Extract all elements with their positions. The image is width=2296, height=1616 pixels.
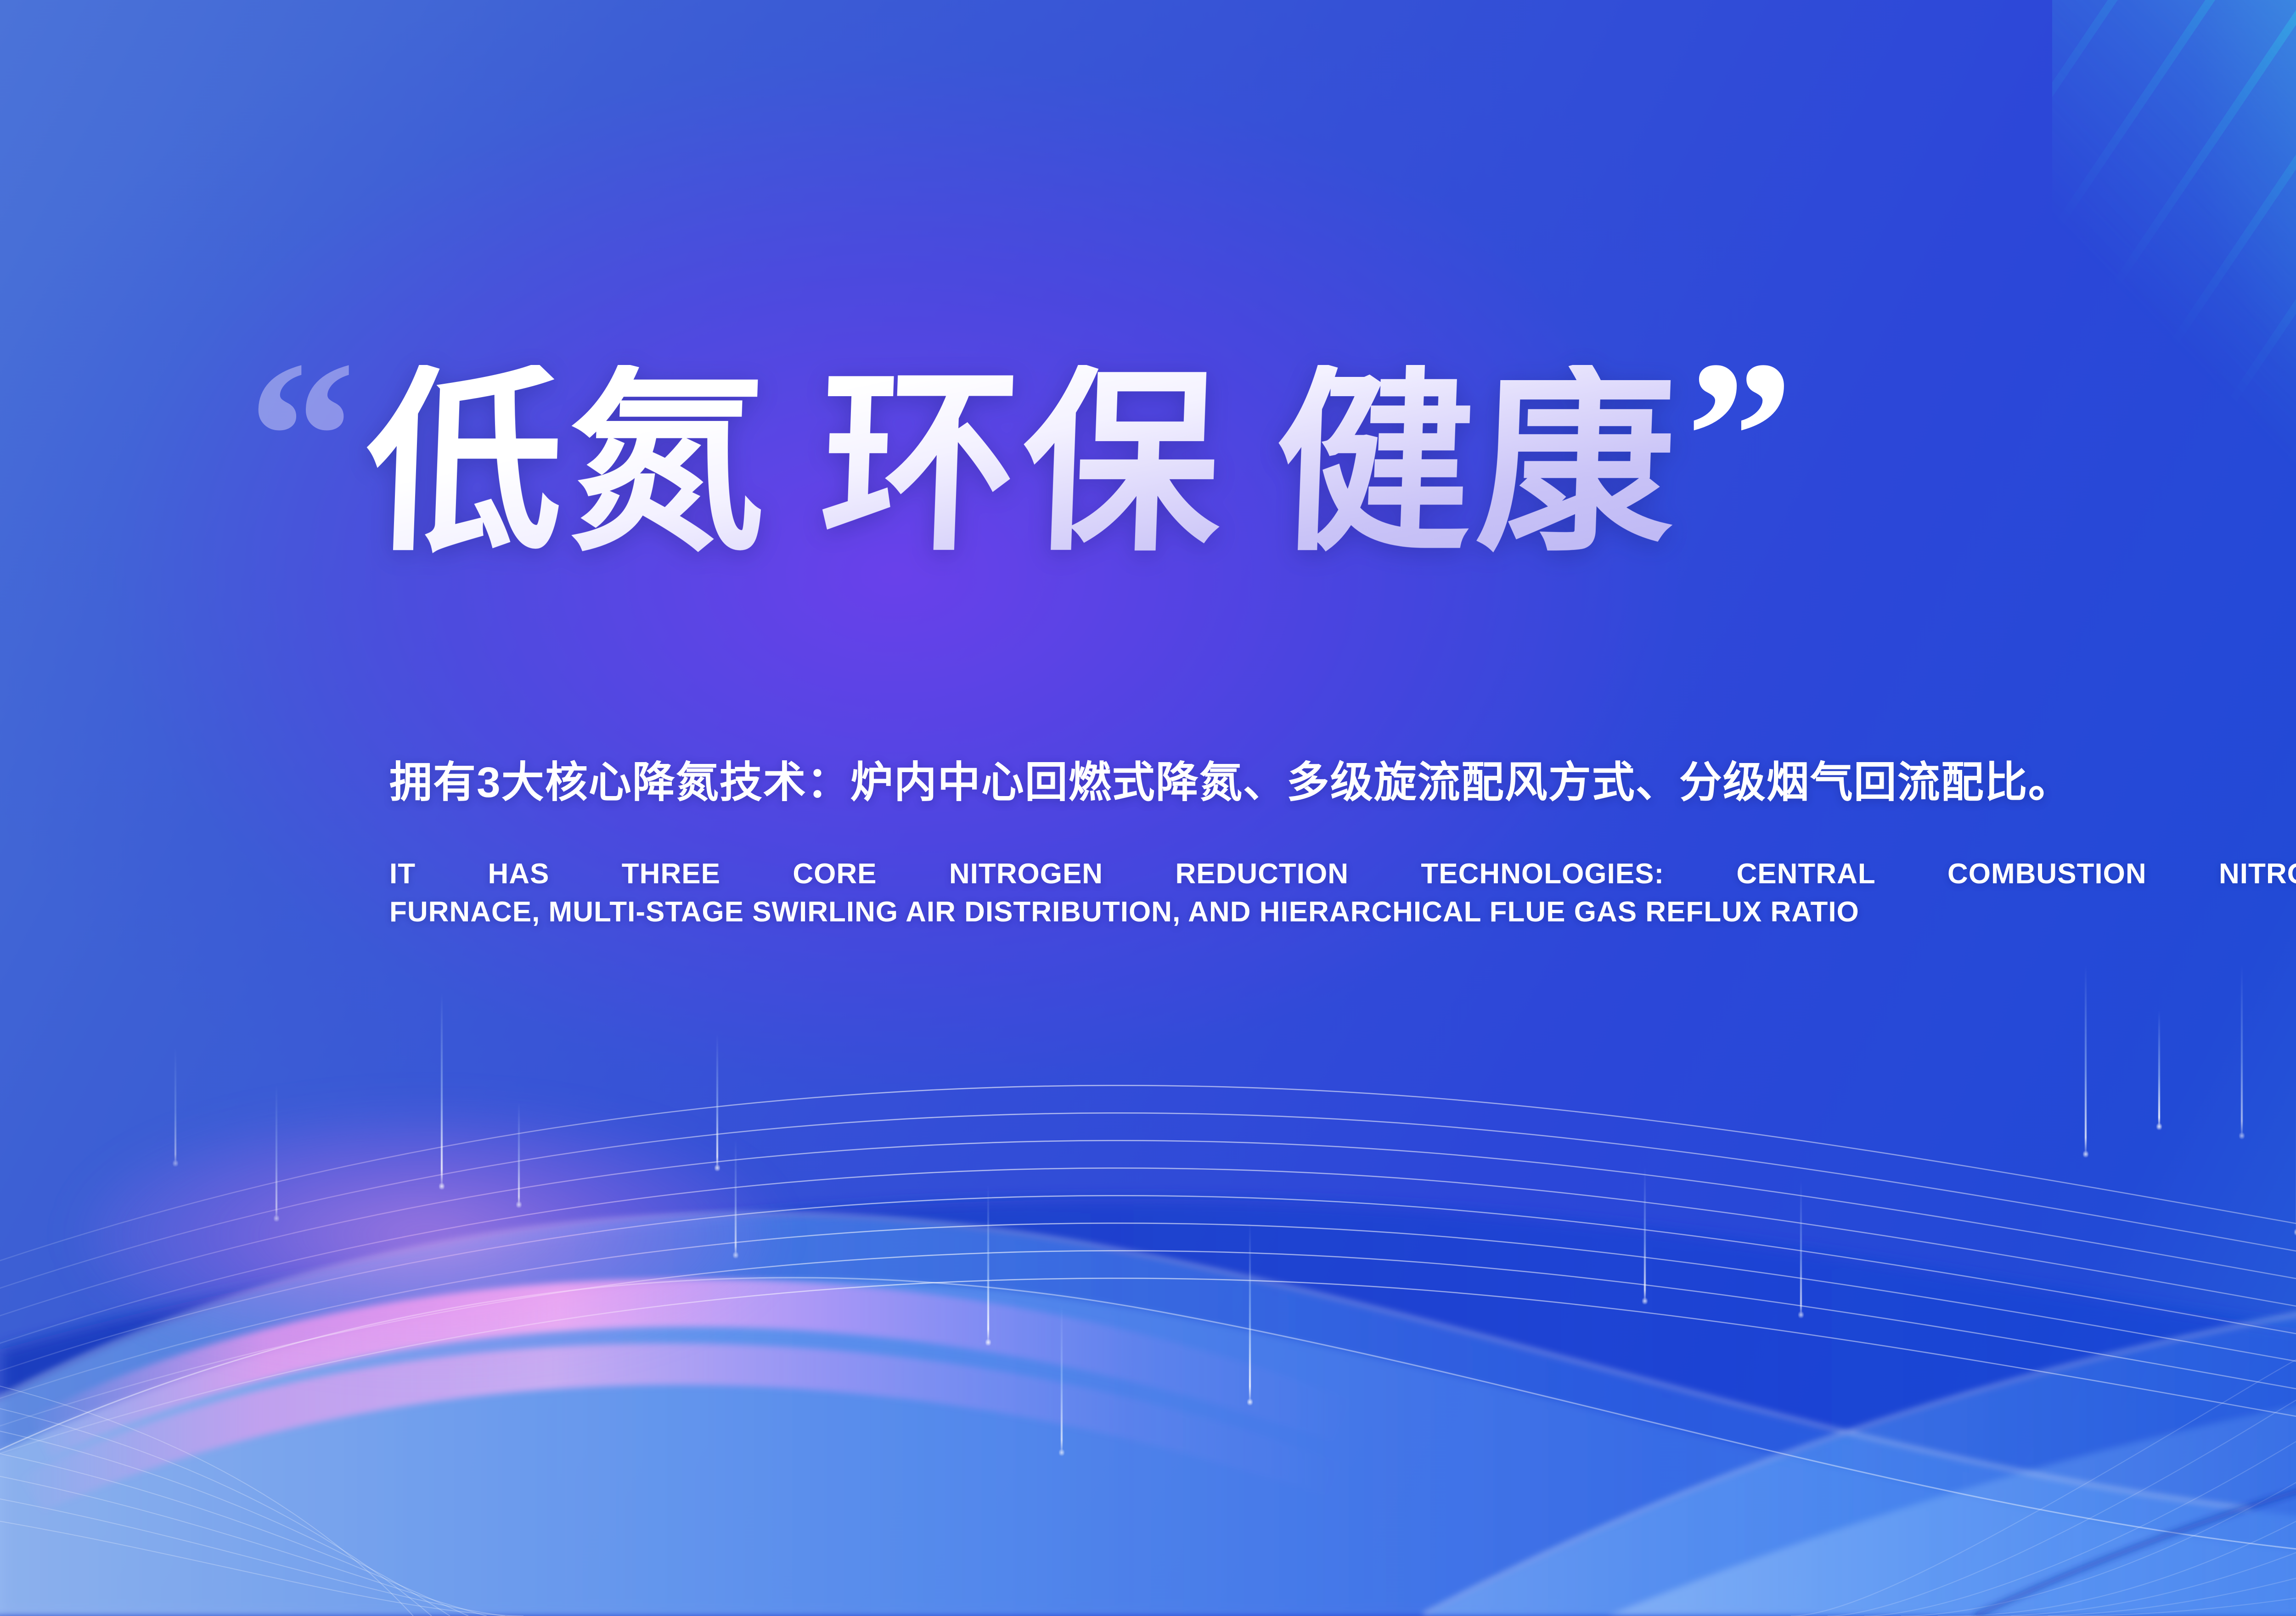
page-title: 低氮环保健康 [362, 365, 1683, 562]
headline-word-1: 低氮 [362, 353, 774, 574]
subtitle-chinese: 拥有3大核心降氮技术：炉内中心回燃式降氮、多级旋流配风方式、分级烟气回流配比。 [389, 747, 2072, 809]
headline-word-3: 健康 [1272, 353, 1683, 574]
headline-block: “ 低氮环保健康 ” [248, 294, 2296, 634]
subtitle-english-line1: IT HAS THREE CORE NITROGEN REDUCTION TEC… [389, 855, 2296, 893]
subtitle-english: IT HAS THREE CORE NITROGEN REDUCTION TEC… [389, 855, 2296, 931]
wave-artwork [0, 900, 2296, 1616]
open-quote-mark: “ [248, 355, 356, 517]
promo-banner: 科技-共赢 SCIENCE AND TECHNOLOGY AND WIN-WIN… [0, 0, 2296, 1616]
headline-word-2: 环保 [817, 353, 1229, 574]
close-quote-mark: ” [1686, 355, 1794, 517]
subtitle-english-line2: FURNACE, MULTI-STAGE SWIRLING AIR DISTRI… [389, 893, 2296, 931]
